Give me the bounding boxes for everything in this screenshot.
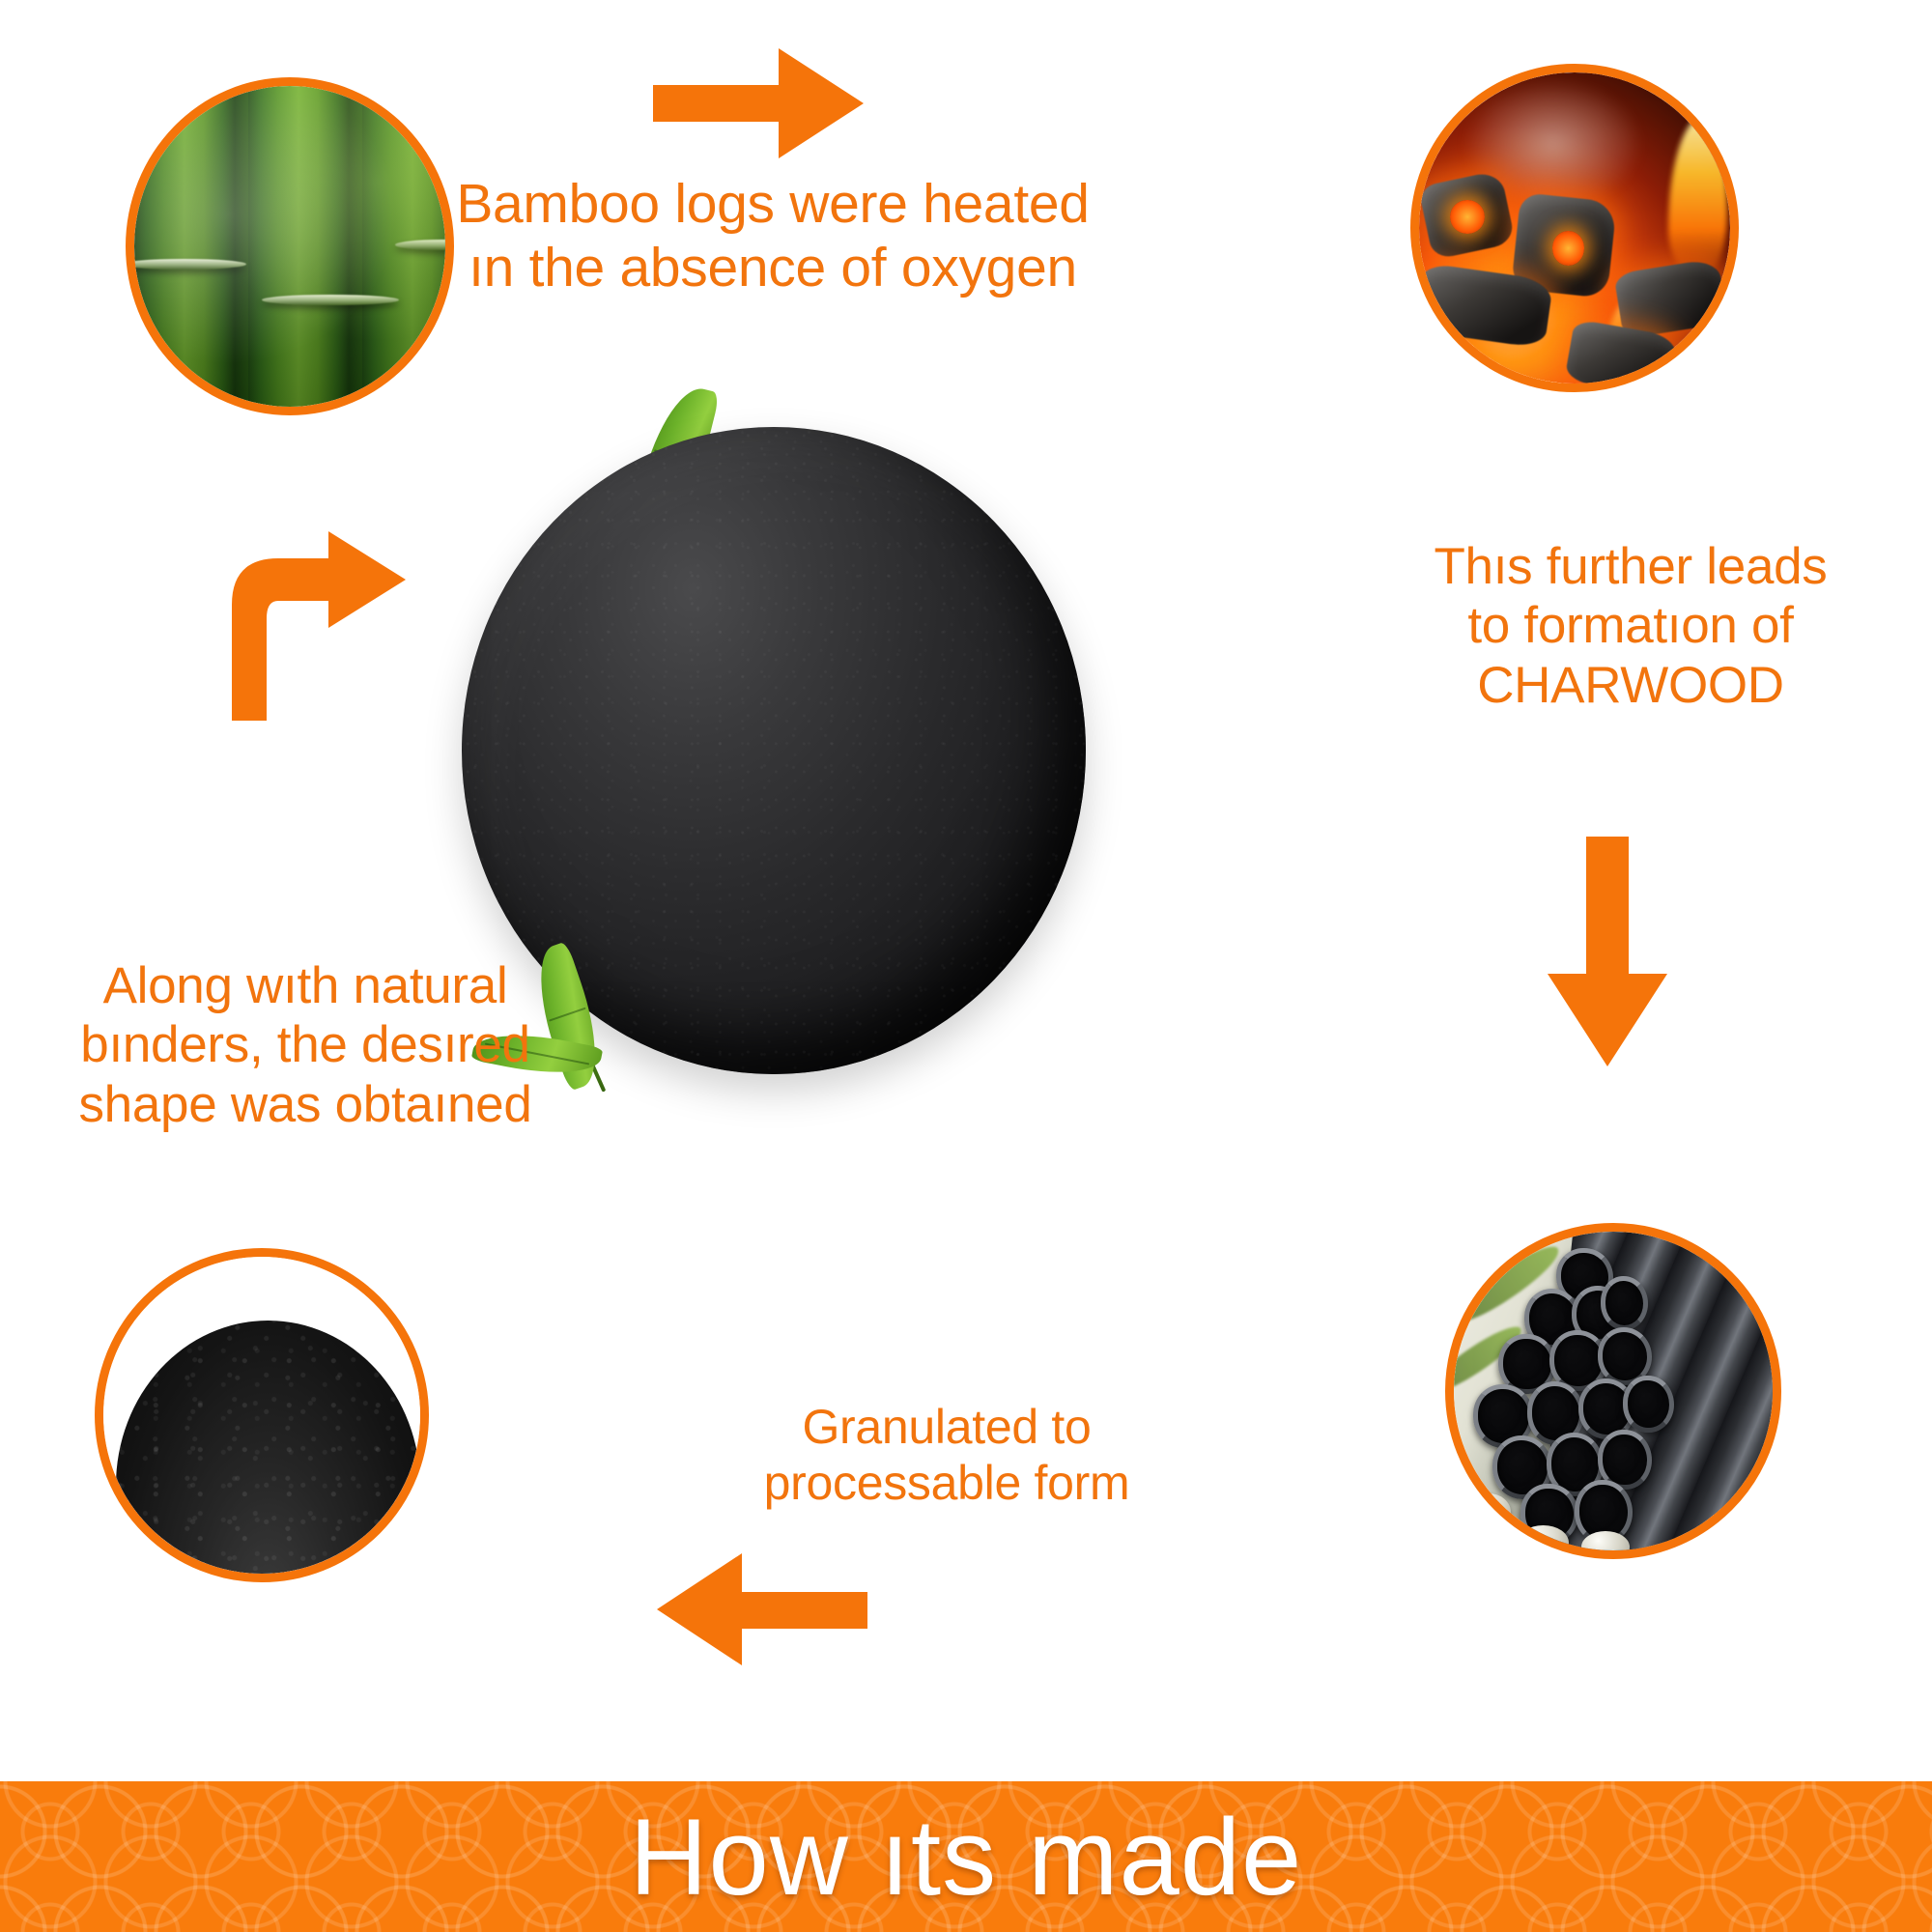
medallion-burning-charcoal: [1410, 64, 1739, 392]
banner-heading: How ıts made: [0, 1781, 1932, 1932]
caption-step-3: Granulated to processable form: [676, 1399, 1217, 1511]
bottom-banner: How ıts made: [0, 1781, 1932, 1932]
medallion-bamboo-stalks: [126, 77, 454, 415]
bamboo-stalks-photo: [134, 86, 445, 407]
arrow-left-elbow-up-right: [222, 529, 415, 723]
charcoal-tubes-photo: [1454, 1232, 1773, 1550]
caption-step-4: Along wıth natural bınders, the desıred …: [6, 956, 605, 1134]
arrow-bottom-left: [653, 1551, 867, 1667]
medallion-charcoal-tubes: [1445, 1223, 1781, 1559]
arrow-top-right: [653, 46, 866, 160]
arrow-right-down: [1546, 837, 1669, 1068]
charcoal-powder-photo: [103, 1257, 420, 1574]
medallion-charcoal-powder: [95, 1248, 429, 1582]
caption-step-2: Thıs further leads to formatıon of CHARW…: [1350, 537, 1911, 715]
burning-charcoal-photo: [1419, 72, 1730, 384]
caption-step-1: Bamboo logs were heated ın the absence o…: [454, 172, 1092, 299]
infographic-canvas: Bamboo logs were heated ın the absence o…: [0, 0, 1932, 1932]
